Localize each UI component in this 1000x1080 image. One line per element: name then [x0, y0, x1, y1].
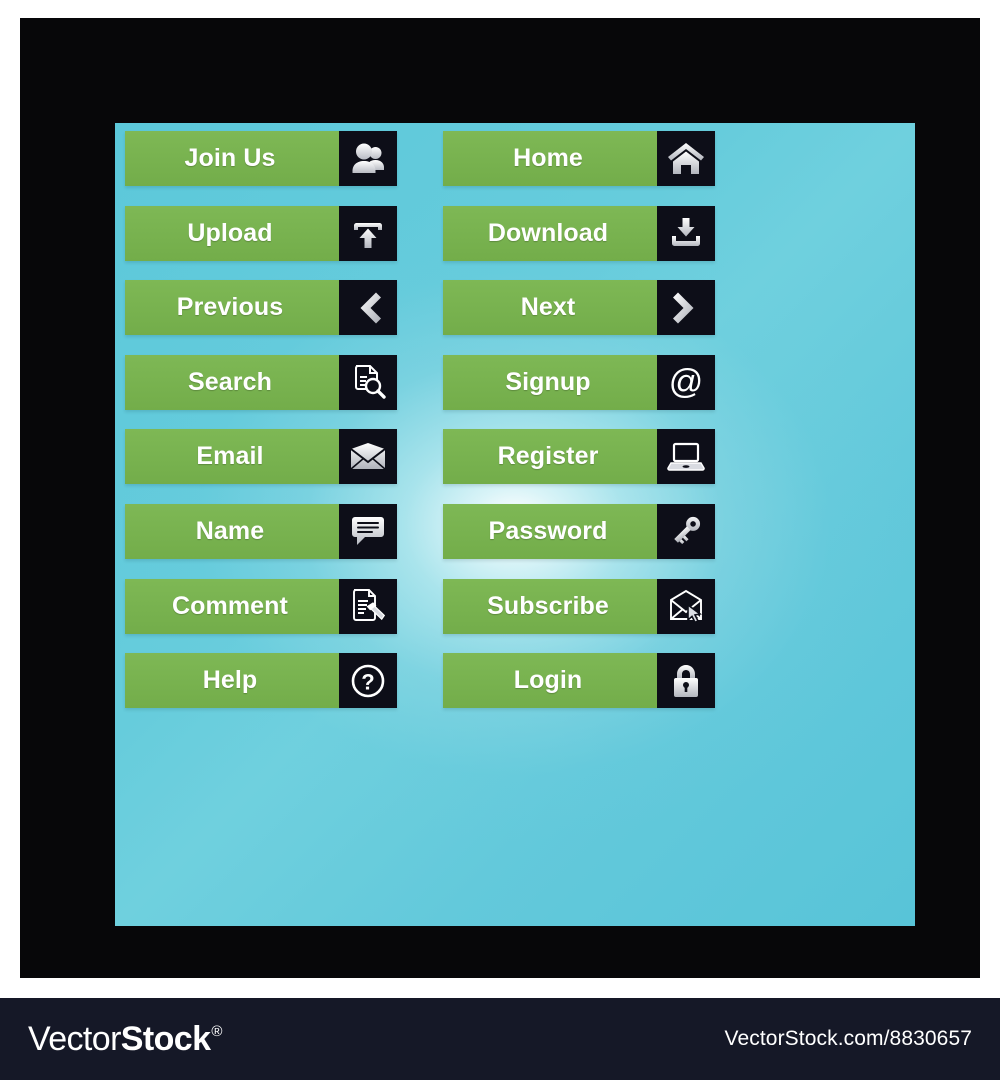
- button-download[interactable]: Download: [443, 206, 715, 261]
- house-icon: [657, 131, 715, 186]
- upload-tray-icon: [339, 206, 397, 261]
- watermark-footer: VectorStock® VectorStock.com/8830657: [0, 998, 1000, 1080]
- button-label: Signup: [443, 355, 657, 410]
- button-label: Next: [443, 280, 657, 335]
- button-register[interactable]: Register: [443, 429, 715, 484]
- button-search[interactable]: Search: [125, 355, 397, 410]
- button-label: Upload: [125, 206, 339, 261]
- button-subscribe[interactable]: Subscribe: [443, 579, 715, 634]
- document-pen-icon: [339, 579, 397, 634]
- button-signup[interactable]: Signup @: [443, 355, 715, 410]
- button-login[interactable]: Login: [443, 653, 715, 708]
- button-label: Download: [443, 206, 657, 261]
- button-label: Email: [125, 429, 339, 484]
- watermark-url: VectorStock.com/8830657: [725, 1027, 972, 1051]
- button-column-right: Home Download: [443, 131, 715, 708]
- button-label: Register: [443, 429, 657, 484]
- svg-text:?: ?: [361, 669, 374, 694]
- key-icon: [657, 504, 715, 559]
- button-help[interactable]: Help ?: [125, 653, 397, 708]
- svg-text:@: @: [669, 363, 704, 401]
- button-label: Name: [125, 504, 339, 559]
- button-password[interactable]: Password: [443, 504, 715, 559]
- button-label: Home: [443, 131, 657, 186]
- black-frame: Join Us: [20, 18, 980, 978]
- logo-text-vector: Vector: [28, 1022, 121, 1056]
- chevron-right-icon: [657, 280, 715, 335]
- users-icon: [339, 131, 397, 186]
- at-sign-icon: @: [657, 355, 715, 410]
- laptop-icon: [657, 429, 715, 484]
- button-label: Previous: [125, 280, 339, 335]
- button-grid: Join Us: [125, 131, 715, 708]
- button-upload[interactable]: Upload: [125, 206, 397, 261]
- document-magnifier-icon: [339, 355, 397, 410]
- button-label: Search: [125, 355, 339, 410]
- button-previous[interactable]: Previous: [125, 280, 397, 335]
- button-email[interactable]: Email: [125, 429, 397, 484]
- button-label: Help: [125, 653, 339, 708]
- button-column-left: Join Us: [125, 131, 397, 708]
- speech-bubble-icon: [339, 504, 397, 559]
- envelope-cursor-icon: [657, 579, 715, 634]
- button-label: Login: [443, 653, 657, 708]
- envelope-icon: [339, 429, 397, 484]
- button-comment[interactable]: Comment: [125, 579, 397, 634]
- button-label: Join Us: [125, 131, 339, 186]
- button-name[interactable]: Name: [125, 504, 397, 559]
- registered-trademark-icon: ®: [211, 1024, 221, 1039]
- button-next[interactable]: Next: [443, 280, 715, 335]
- artboard: Join Us: [0, 0, 1000, 1080]
- button-label: Subscribe: [443, 579, 657, 634]
- chevron-left-icon: [339, 280, 397, 335]
- download-tray-icon: [657, 206, 715, 261]
- vectorstock-logo: VectorStock®: [28, 1022, 222, 1056]
- button-join-us[interactable]: Join Us: [125, 131, 397, 186]
- logo-text-stock: Stock: [121, 1022, 211, 1056]
- button-label: Comment: [125, 579, 339, 634]
- padlock-icon: [657, 653, 715, 708]
- button-home[interactable]: Home: [443, 131, 715, 186]
- button-label: Password: [443, 504, 657, 559]
- question-mark-circle-icon: ?: [339, 653, 397, 708]
